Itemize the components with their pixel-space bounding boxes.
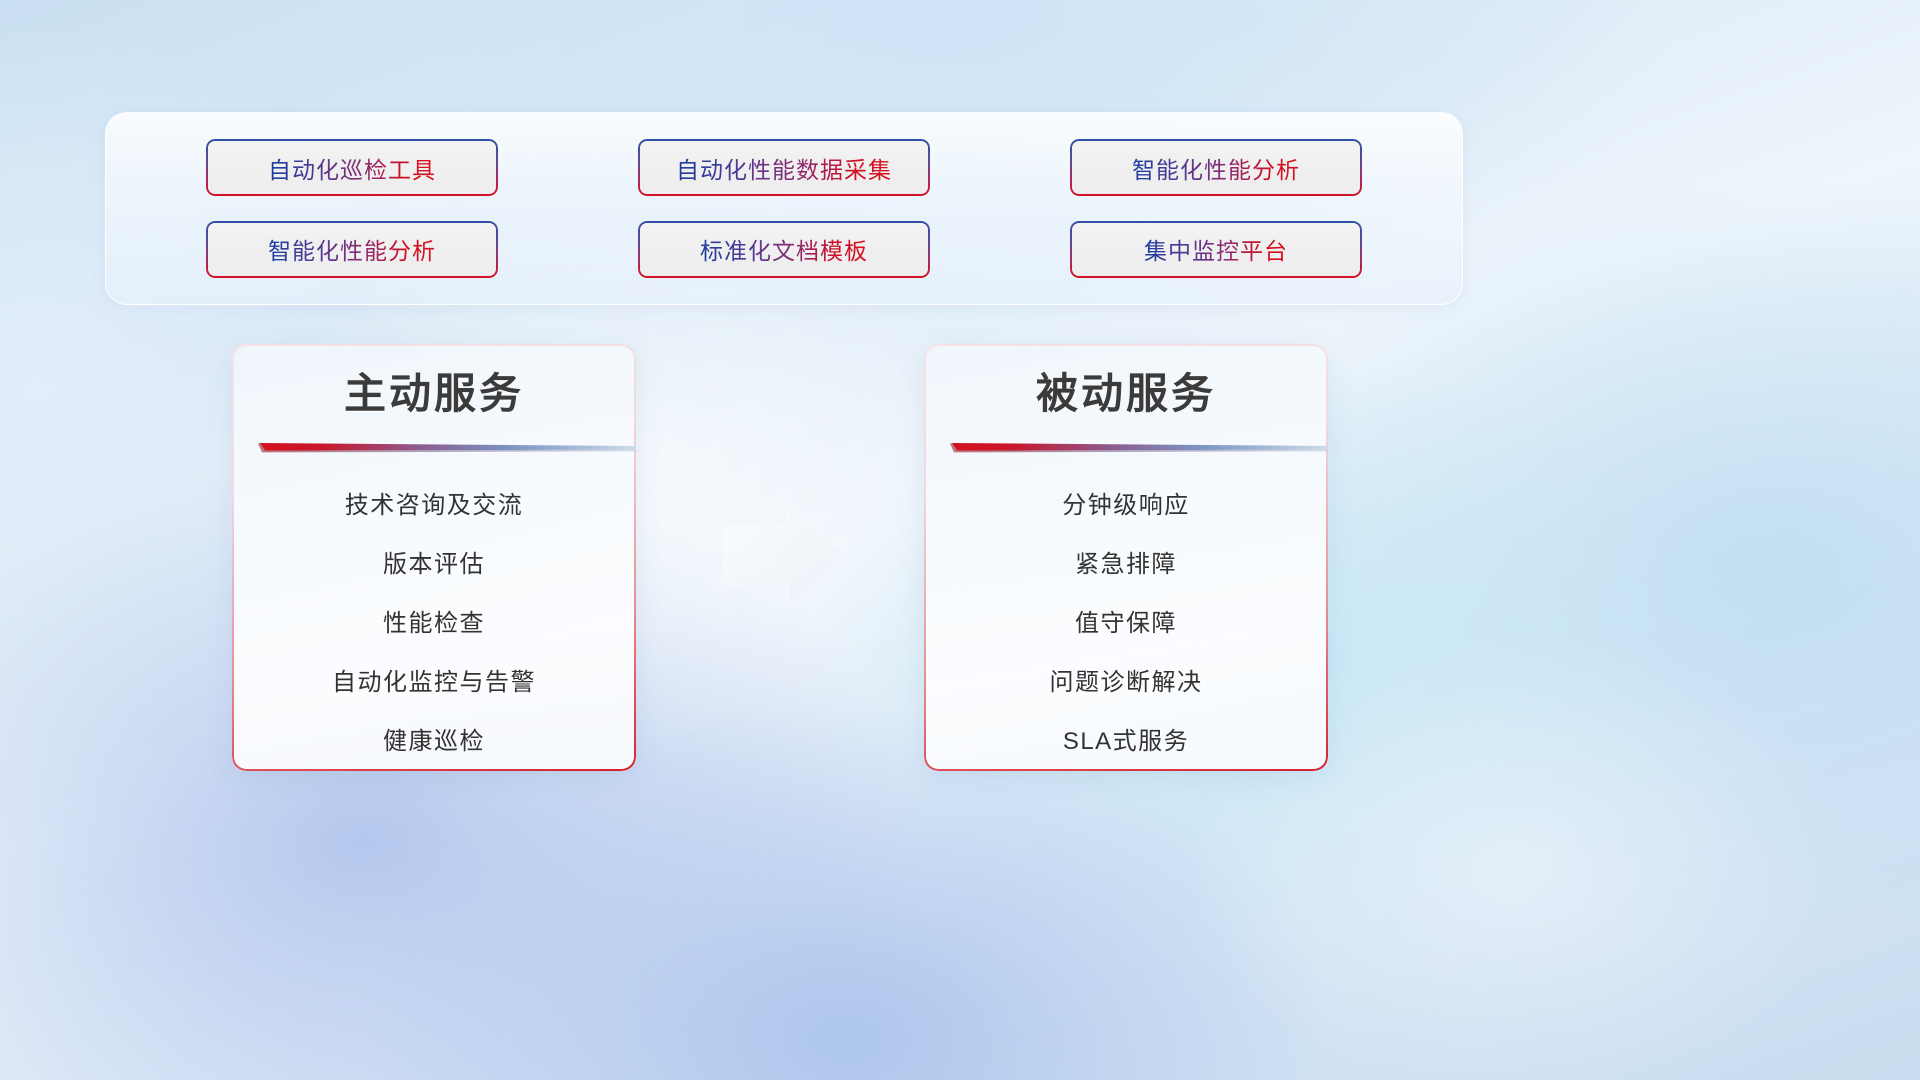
list-item: 性能检查 [232, 594, 636, 653]
list-item: 版本评估 [232, 535, 636, 594]
chip-label: 标准化文档模板 [700, 232, 868, 266]
capability-chips-panel: 自动化巡检工具 自动化性能数据采集 智能化性能分析 智能化性能分析 标准化文档模… [105, 112, 1463, 305]
chip-standardized-document-template[interactable]: 标准化文档模板 [638, 221, 930, 278]
chip-label: 智能化性能分析 [1132, 151, 1300, 185]
chip-automated-performance-data-collection[interactable]: 自动化性能数据采集 [638, 139, 930, 196]
passive-service-list: 分钟级响应 紧急排障 值守保障 问题诊断解决 SLA式服务 [924, 454, 1328, 772]
list-item: 紧急排障 [924, 535, 1328, 594]
chip-intelligent-performance-analysis-top[interactable]: 智能化性能分析 [1070, 139, 1362, 196]
flow-arrow-right-icon [718, 506, 846, 606]
title-divider-passive [924, 443, 1328, 454]
active-service-card: 主动服务 [232, 344, 636, 771]
active-service-list: 技术咨询及交流 版本评估 性能检查 自动化监控与告警 健康巡检 [232, 454, 636, 772]
list-item: SLA式服务 [924, 712, 1328, 771]
chip-label: 智能化性能分析 [268, 232, 436, 266]
list-item: 分钟级响应 [924, 476, 1328, 535]
title-divider-active [232, 443, 636, 454]
chip-intelligent-performance-analysis-bottom[interactable]: 智能化性能分析 [206, 221, 498, 278]
list-item: 健康巡检 [232, 712, 636, 771]
chip-label: 集中监控平台 [1144, 232, 1288, 266]
chip-automation-inspection-tool[interactable]: 自动化巡检工具 [206, 139, 498, 196]
chip-label: 自动化性能数据采集 [676, 151, 892, 185]
chip-centralized-monitoring-platform[interactable]: 集中监控平台 [1070, 221, 1362, 278]
list-item: 技术咨询及交流 [232, 476, 636, 535]
passive-service-card: 被动服务 [924, 344, 1328, 771]
active-service-title: 主动服务 [232, 368, 636, 421]
list-item: 值守保障 [924, 594, 1328, 653]
passive-service-title: 被动服务 [924, 368, 1328, 421]
list-item: 自动化监控与告警 [232, 653, 636, 712]
list-item: 问题诊断解决 [924, 653, 1328, 712]
chip-label: 自动化巡检工具 [268, 151, 436, 185]
